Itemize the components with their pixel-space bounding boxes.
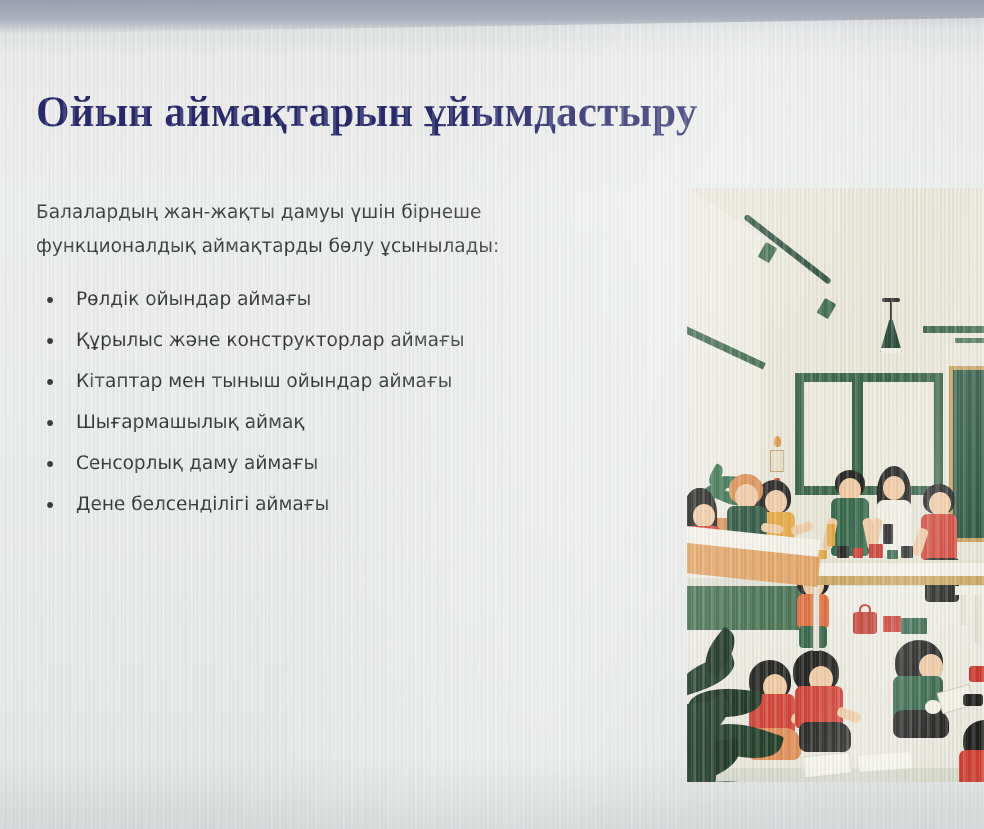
school-bag-handle: [859, 604, 871, 614]
list-item-label: Құрылыс және конструкторлар аймағы: [76, 330, 465, 351]
bullet-dot-icon: [47, 420, 53, 426]
zones-bullet-list: Рөлдік ойындар аймағы Құрылыс және конст…: [40, 283, 640, 529]
list-item: Дене белсенділігі аймағы: [40, 488, 640, 529]
small-desk: [955, 586, 984, 595]
list-item-label: Сенсорлық даму аймағы: [76, 453, 318, 474]
toy-block: [883, 616, 901, 632]
list-item: Кітаптар мен тыныш ойындар аймағы: [40, 365, 640, 406]
list-item-label: Дене белсенділігі аймағы: [76, 494, 329, 515]
toy-block: [901, 546, 913, 558]
wall-wainscot: [687, 586, 815, 630]
list-item-label: Рөлдік ойындар аймағы: [76, 289, 311, 310]
slide-intro-paragraph: Балалардың жан-жақты дамуы үшін бірнеше …: [36, 196, 556, 264]
child-head: [765, 490, 787, 514]
toy-block: [853, 548, 863, 558]
wall-shelf-right-lower: [955, 338, 984, 343]
list-item: Шығармашылық аймақ: [40, 406, 640, 447]
pendant-lamp-rod: [890, 300, 892, 322]
list-item: Құрылыс және конструкторлар аймағы: [40, 324, 640, 365]
small-desk-leg: [961, 595, 966, 625]
list-item-label: Кітаптар мен тыныш ойындар аймағы: [76, 371, 452, 392]
activity-table-edge: [805, 576, 984, 585]
table-leg: [813, 585, 819, 651]
drink-cup: [827, 524, 835, 546]
window: [795, 373, 943, 495]
toy-block: [837, 546, 849, 558]
toy-ball: [925, 700, 941, 714]
child-head: [929, 492, 951, 516]
illustration-artwork: [687, 188, 984, 782]
activity-table: [805, 560, 984, 576]
toy-block: [963, 694, 983, 706]
bullet-dot-icon: [47, 379, 53, 385]
list-item: Сенсорлық даму аймағы: [40, 447, 640, 488]
bullet-dot-icon: [47, 502, 53, 508]
child-pants: [799, 722, 851, 752]
list-item: Рөлдік ойындар аймағы: [40, 283, 640, 324]
list-item-label: Шығармашылық аймақ: [76, 412, 305, 433]
child-head: [693, 504, 715, 528]
school-bag: [853, 612, 877, 634]
child-head: [883, 476, 905, 500]
child-body: [959, 750, 984, 782]
drink-cup: [883, 524, 893, 544]
wall-decor-icon: [774, 436, 781, 447]
toy-block: [969, 666, 984, 682]
bullet-dot-icon: [47, 461, 53, 467]
classroom-illustration: [687, 188, 984, 782]
pendant-lamp-glow: [880, 348, 902, 353]
slide-content: Ойын аймақтарын ұйымдастыру Балалардың ж…: [0, 0, 984, 829]
chalkboard-surface: [953, 370, 984, 538]
toy-block: [869, 544, 883, 558]
toy-block: [901, 618, 927, 634]
photographed-presentation-screen: Ойын аймақтарын ұйымдастыру Балалардың ж…: [0, 0, 984, 829]
wall-shelf-right: [923, 326, 984, 333]
toy-block: [887, 550, 898, 559]
bullet-dot-icon: [47, 297, 53, 303]
wall-poster: [770, 450, 784, 472]
child-pants: [893, 710, 949, 738]
bullet-dot-icon: [47, 338, 53, 344]
slide-title: Ойын аймақтарын ұйымдастыру: [36, 88, 697, 138]
